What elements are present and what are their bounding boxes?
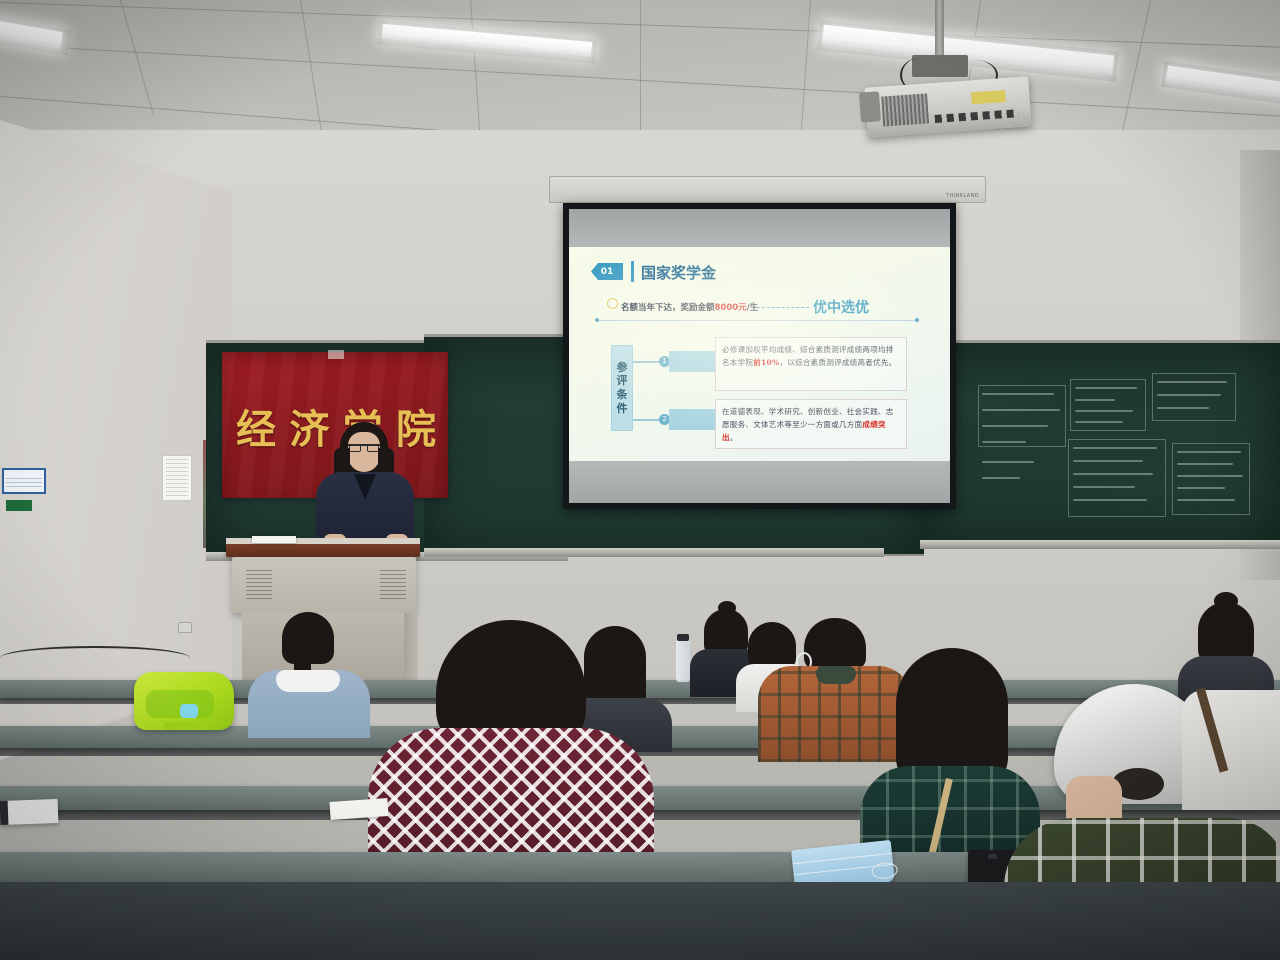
projection-screen: 01 国家奖学金 名额当年下达，奖励金额8000元/生 优中选优 参 评 条 <box>563 203 956 509</box>
screen-band-bottom <box>569 461 950 503</box>
floor-cable <box>0 646 190 670</box>
person-student-1 <box>248 612 370 738</box>
blackboard-right <box>920 340 1280 545</box>
person-student-10 <box>1182 690 1280 810</box>
podium-desktop <box>226 543 420 557</box>
slide-connector-1 <box>633 361 661 363</box>
slide-highlight-text: 优中选优 <box>813 297 869 317</box>
screen-band-top <box>569 209 950 247</box>
slide-subtitle: 名额当年下达，奖励金额8000元/生 <box>621 301 758 313</box>
water-bottle <box>676 640 690 682</box>
backpack <box>134 672 234 730</box>
vlabel-char-3: 条 <box>617 389 628 401</box>
slide-divider-rule <box>597 320 917 321</box>
student-1-collar <box>276 670 340 692</box>
criterion-2-text-after: 。 <box>730 433 738 442</box>
student-6-hair <box>804 618 866 670</box>
podium-papers <box>252 536 296 543</box>
slide-chip-2 <box>669 409 715 430</box>
screen-housing: THINKLAND <box>549 176 986 203</box>
slide-connector-2 <box>633 419 661 421</box>
slide-vertical-label: 参 评 条 件 <box>611 345 633 431</box>
projector-pole <box>935 0 944 62</box>
screen-surface: 01 国家奖学金 名额当年下达，奖励金额8000元/生 优中选优 参 评 条 <box>569 209 950 503</box>
person-student-2 <box>368 620 654 860</box>
slide-title: 国家奖学金 <box>641 262 716 283</box>
vlabel-char-1: 参 <box>617 362 628 374</box>
podium-grille-right <box>380 570 406 602</box>
water-bottle-cap <box>677 634 689 641</box>
slide-bullet-icon <box>607 298 618 309</box>
chalk-notes-block-2 <box>1070 379 1146 431</box>
slide-subtitle-prefix: 名额当年下达，奖励金额 <box>621 303 715 313</box>
slide-dash-connector <box>757 307 809 308</box>
chalk-tray-right <box>920 540 1280 549</box>
banner-char-1: 经 <box>236 397 276 455</box>
speaker-face <box>348 432 380 472</box>
student-6-collar <box>816 666 856 684</box>
criterion-1-text-after: ，以综合素质测评成绩高者优先。 <box>779 358 896 367</box>
slide-rule-dot-right <box>915 318 919 322</box>
criterion-1-text-red: 前10% <box>753 358 779 367</box>
slide-title-bar <box>631 261 634 282</box>
student-1-hair <box>282 612 334 664</box>
banner-tape <box>328 350 344 359</box>
slide-subtitle-suffix: /生 <box>747 303 759 313</box>
slide-amount: 8000元 <box>715 303 747 313</box>
chalk-notes-column-1 <box>982 391 1064 501</box>
speaker-glasses-lens-l <box>349 444 361 452</box>
student-8-hair <box>1198 602 1254 664</box>
floor <box>0 882 1280 960</box>
chalk-tray-center <box>424 548 884 557</box>
student-10-torso <box>1182 690 1280 810</box>
chalk-notes-block-5 <box>1172 443 1250 515</box>
slide-number-tag: 01 <box>591 263 623 280</box>
student-4-bun <box>718 601 736 615</box>
student-8-bun <box>1214 592 1238 610</box>
person-speaker <box>310 422 420 552</box>
slide-criterion-box-2: 在道德表现、学术研究、创新创业、社会实践、志愿服务、文体艺术等至少一方面或几方面… <box>715 399 907 449</box>
student-2-torso <box>368 728 654 860</box>
projector-lens <box>859 91 881 122</box>
slide-rule-dot-left <box>595 318 599 322</box>
wall-outlet[interactable] <box>178 622 192 633</box>
vlabel-char-2: 评 <box>617 375 628 387</box>
classroom-photo: 经 济 学 院 THINKLAND 01 国家奖学金 名额当年下达，奖励金额80… <box>0 0 1280 960</box>
slide-criterion-box-1: 必修课加权平均成绩、综合素质测评成绩两项均排名本学院前10%，以综合素质测评成绩… <box>715 337 907 391</box>
screen-brand-logo: THINKLAND <box>946 193 979 199</box>
wall-notice-paper <box>162 455 192 501</box>
slide: 01 国家奖学金 名额当年下达，奖励金额8000元/生 优中选优 参 评 条 <box>569 247 950 461</box>
wall-notice-blue <box>2 468 46 494</box>
chalk-notes-block-3 <box>1152 373 1236 421</box>
notebook-left <box>0 799 58 825</box>
vlabel-char-4: 件 <box>617 403 628 415</box>
podium-body <box>232 557 416 613</box>
podium-grille-left <box>246 570 272 602</box>
slide-chip-1 <box>669 351 715 372</box>
chalk-notes-block-4 <box>1068 439 1166 517</box>
wall-notice-badge <box>6 500 32 511</box>
